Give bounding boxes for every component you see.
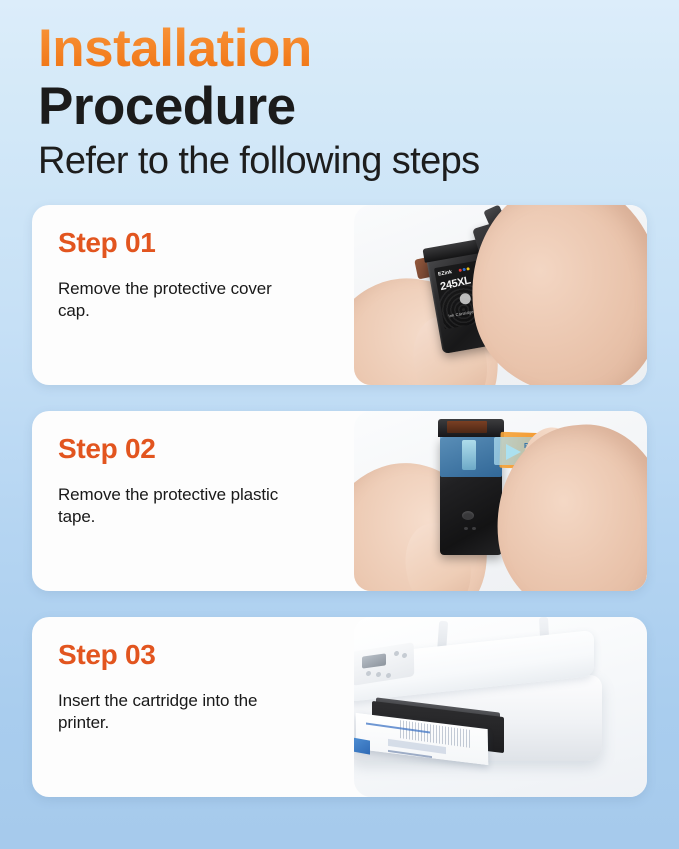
cartridge-vent-hole — [462, 511, 474, 520]
steps-list: Step 01 Remove the protective cover cap.… — [0, 205, 679, 797]
step-2-text-block: Step 02 Remove the protective plastic ta… — [32, 411, 354, 591]
cartridge-nozzle-head — [438, 419, 504, 437]
cartridge-cap-removal-image: EZink 245XL Ink Cartridge — [354, 205, 647, 385]
plastic-tape-removal-image: PULL — [354, 411, 647, 591]
step-1-text-block: Step 01 Remove the protective cover cap. — [32, 205, 354, 385]
printed-page-color-tag — [354, 737, 370, 754]
cartridge-brand-text: EZink — [438, 269, 453, 277]
printer-insertion-image — [354, 617, 647, 797]
page-header: Installation Procedure Refer to the foll… — [0, 0, 679, 183]
step-1-description: Remove the protective cover cap. — [58, 278, 308, 323]
cmy-color-dots-icon — [458, 266, 469, 271]
page-title-line-1: Installation — [38, 22, 679, 77]
step-3-description: Insert the cartridge into the printer. — [58, 690, 308, 735]
page-subtitle: Refer to the following steps — [38, 140, 679, 183]
step-3-text-block: Step 03 Insert the cartridge into the pr… — [32, 617, 354, 797]
step-3-photo — [354, 617, 647, 797]
step-3-label: Step 03 — [58, 641, 354, 669]
step-2-description: Remove the protective plastic tape. — [58, 484, 308, 529]
step-card-3: Step 03 Insert the cartridge into the pr… — [32, 617, 647, 797]
cartridge-small-hole-1 — [464, 527, 468, 530]
step-card-2: Step 02 Remove the protective plastic ta… — [32, 411, 647, 591]
step-2-label: Step 02 — [58, 435, 354, 463]
page-title-line-2: Procedure — [38, 79, 679, 135]
step-card-1: Step 01 Remove the protective cover cap.… — [32, 205, 647, 385]
step-1-photo: EZink 245XL Ink Cartridge — [354, 205, 647, 385]
step-1-label: Step 01 — [58, 229, 354, 257]
step-2-photo: PULL — [354, 411, 647, 591]
cartridge-small-hole-2 — [472, 527, 476, 530]
cartridge-blue-window — [440, 435, 502, 477]
